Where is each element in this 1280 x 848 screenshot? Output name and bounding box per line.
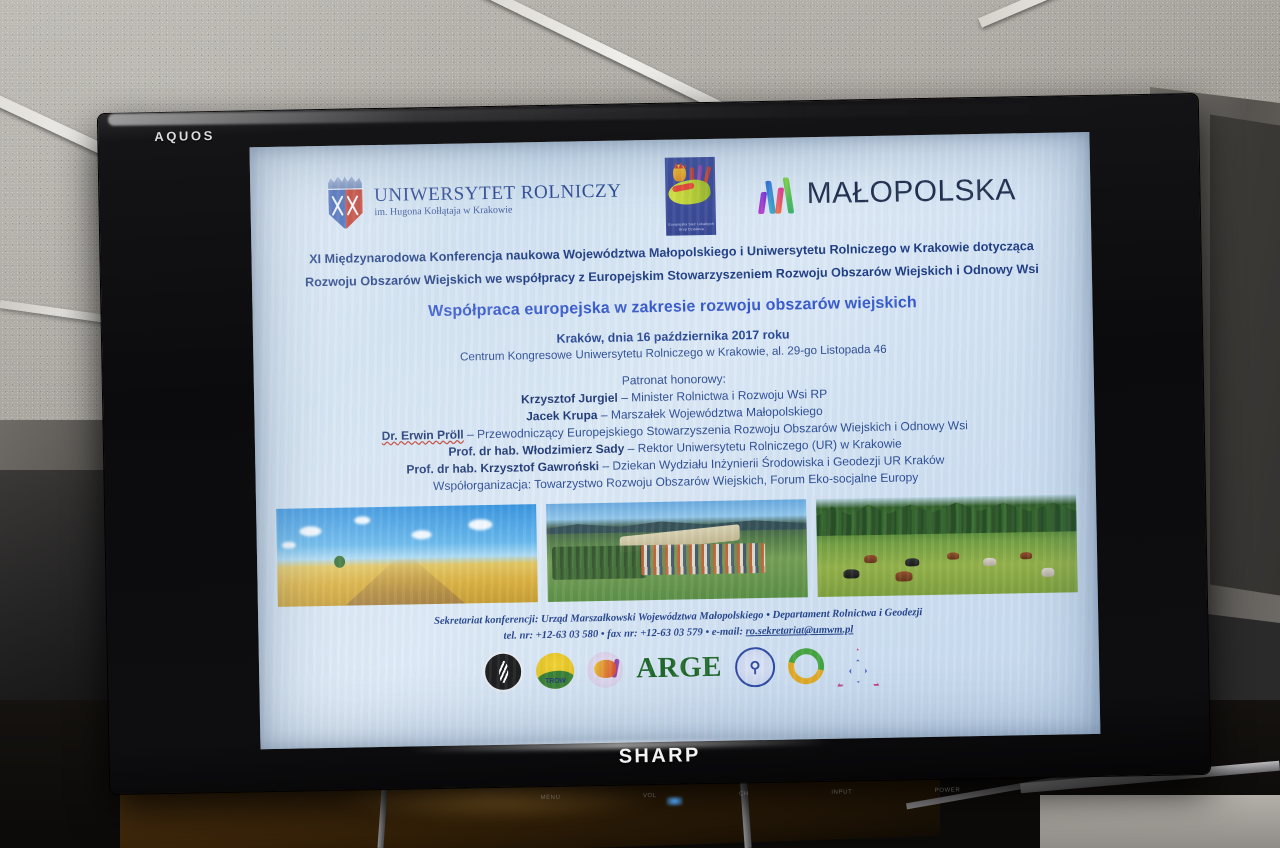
right-wall-recess bbox=[1210, 114, 1280, 595]
bullet-separator: • bbox=[705, 627, 709, 638]
power-led-indicator bbox=[666, 797, 682, 806]
trow-label: TROW bbox=[536, 677, 574, 685]
wheat-field-photo bbox=[276, 504, 538, 607]
banner-caption: Europejska Sieć Lokalnych Grup Działania bbox=[666, 222, 716, 233]
secretariat-fax: fax nr: +12-63 03 579 bbox=[607, 628, 703, 641]
slide-header: UNIWERSYTET ROLNICZY im. Hugona Kołłątaj… bbox=[266, 146, 1075, 247]
village-photo bbox=[546, 499, 808, 602]
grazing-cows-photo bbox=[816, 494, 1078, 597]
secretariat-tel: tel. nr: +12-63 03 580 bbox=[504, 629, 599, 642]
trow-logo: TROW bbox=[536, 652, 575, 689]
photo-strip bbox=[272, 494, 1082, 607]
tv-button-ch[interactable]: CH bbox=[739, 791, 749, 797]
patron-role: – Marszałek Województwa Małopolskiego bbox=[601, 404, 823, 422]
tv-button-input[interactable]: INPUT bbox=[831, 789, 852, 795]
university-subname: im. Hugona Kołłątaja w Krakowie bbox=[374, 203, 622, 218]
pink-blue-chevron-logo bbox=[837, 648, 876, 683]
tv-button-power[interactable]: POWER bbox=[935, 787, 961, 793]
presentation-slide: UNIWERSYTET ROLNICZY im. Hugona Kołłątaj… bbox=[249, 132, 1100, 749]
conference-main-title: Współpraca europejska w zakresie rozwoju… bbox=[268, 291, 1076, 324]
patron-name: Krzysztof Jurgiel bbox=[521, 390, 618, 406]
rooster-banner-icon: Europejska Sieć Lokalnych Grup Działania bbox=[665, 157, 716, 236]
cabinet bbox=[1040, 795, 1280, 848]
secretariat-label: Sekretariat konferencji: bbox=[434, 614, 539, 627]
university-name: UNIWERSYTET ROLNICZY bbox=[374, 181, 622, 205]
green-yellow-swirl-logo bbox=[788, 648, 825, 685]
university-logo-text: UNIWERSYTET ROLNICZY im. Hugona Kołłątaj… bbox=[374, 181, 622, 218]
secretariat-dept: Departament Rolnictwa i Geodezji bbox=[772, 607, 922, 621]
tv-screen: UNIWERSYTET ROLNICZY im. Hugona Kołłątaj… bbox=[249, 132, 1100, 749]
arge-logo: ARGE bbox=[636, 651, 722, 686]
malopolska-rooster-logo bbox=[587, 651, 624, 688]
television: AQUOS UNIWERSYTET ROLNICZY im. Hugona Ko… bbox=[98, 94, 1210, 794]
patron-name: Prof. dr hab. Krzysztof Gawroński bbox=[406, 459, 599, 477]
bullet-separator: • bbox=[766, 610, 770, 621]
malopolska-m-icon bbox=[759, 175, 796, 214]
photo-scene: AQUOS UNIWERSYTET ROLNICZY im. Hugona Ko… bbox=[0, 0, 1280, 848]
rooster-graphic bbox=[668, 162, 713, 211]
partner-logo-row: TROW ARGE ⚲ bbox=[275, 641, 1084, 696]
secretariat-org: Urząd Marszałkowski Województwa Małopols… bbox=[541, 610, 764, 625]
bullet-separator: • bbox=[601, 629, 605, 640]
black-circle-feather-logo bbox=[483, 651, 524, 692]
secretariat-email[interactable]: ro.sekretariat@umwm.pl bbox=[746, 625, 854, 638]
email-label: e-mail: bbox=[712, 627, 743, 639]
university-crest-icon bbox=[325, 175, 366, 230]
patron-name: Jacek Krupa bbox=[526, 408, 598, 423]
patron-name: Prof. dr hab. Włodzimierz Sady bbox=[448, 441, 624, 458]
blue-seal-logo: ⚲ bbox=[735, 647, 776, 688]
patronage-block: Patronat honorowy: Krzysztof Jurgiel – M… bbox=[270, 364, 1080, 498]
malopolska-wordmark: MAŁOPOLSKA bbox=[806, 173, 1016, 211]
patron-name: Dr. Erwin Pröll bbox=[382, 427, 464, 443]
tv-button-menu[interactable]: MENU bbox=[540, 795, 560, 801]
university-logo: UNIWERSYTET ROLNICZY im. Hugona Kołłątaj… bbox=[325, 171, 622, 230]
malopolska-logo: MAŁOPOLSKA bbox=[759, 171, 1016, 214]
patron-role: – Minister Rolnictwa i Rozwoju Wsi RP bbox=[621, 387, 827, 405]
tv-button-vol[interactable]: VOL bbox=[643, 793, 657, 799]
aquos-brand-label: AQUOS bbox=[154, 128, 215, 144]
